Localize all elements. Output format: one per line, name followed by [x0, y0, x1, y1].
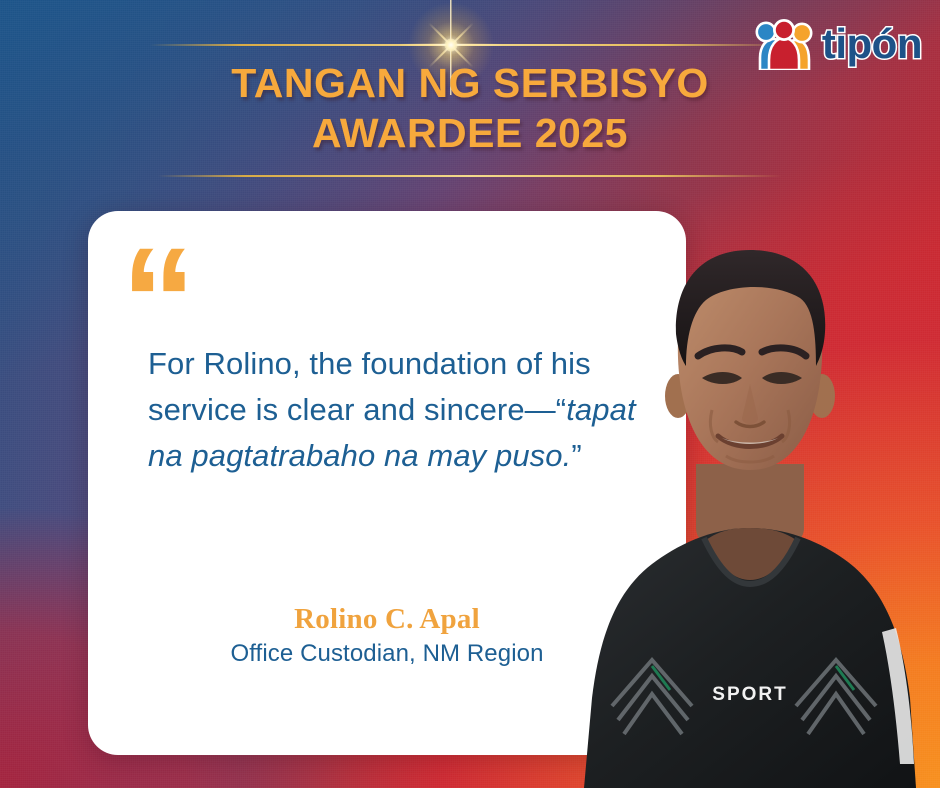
tipon-logo[interactable]: tipón: [753, 18, 922, 70]
svg-text:SPORT: SPORT: [712, 684, 787, 705]
poster-title-line-1: TANGAN NG SERBISYO: [231, 60, 709, 106]
poster-title: TANGAN NG SERBISYO AWARDEE 2025: [0, 58, 940, 158]
poster-header: TANGAN NG SERBISYO AWARDEE 2025 tipón: [0, 0, 940, 190]
three-people-group-logo-icon: [753, 18, 815, 70]
award-poster: TANGAN NG SERBISYO AWARDEE 2025 tipón: [0, 0, 940, 788]
header-bottom-divider: [158, 175, 782, 177]
awardee-portrait: SPORT: [560, 228, 940, 788]
tipon-wordmark: tipón: [822, 20, 922, 68]
poster-title-line-2: AWARDEE 2025: [0, 108, 940, 158]
quote-text-part-1: For Rolino, the foundation of his servic…: [148, 346, 591, 427]
